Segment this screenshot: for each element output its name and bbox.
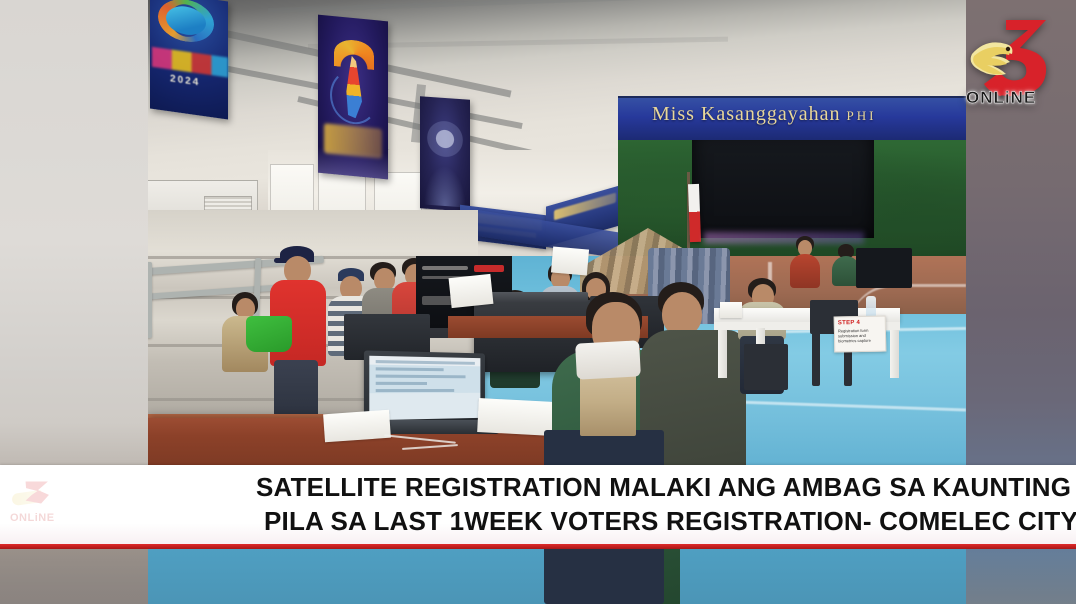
watermark-text: ONLiNE: [10, 512, 55, 524]
broadcast-frame: 2024 Miss Kasanggayahan: [0, 0, 1076, 604]
table-leg: [890, 330, 899, 378]
paper-stack: [551, 246, 589, 275]
stage-lighting-glow: [704, 232, 864, 244]
stage-equipment-table: [856, 248, 912, 288]
green-bag: [246, 316, 292, 352]
paper-stack: [449, 274, 494, 308]
handrail-post: [148, 262, 152, 338]
lower-third-watermark: ONLiNE: [10, 478, 70, 528]
printer-paper-tray: [482, 292, 588, 302]
headline-line-2: PILA SA LAST 1WEEK VOTERS REGISTRATION- …: [264, 504, 1066, 538]
festival-wordmark: [152, 47, 228, 78]
plastic-wrapped-item: [575, 340, 641, 379]
hanging-banner-pageant: [318, 15, 388, 180]
festival-year: 2024: [170, 73, 200, 88]
paper-stack: [477, 398, 555, 436]
small-sign: [720, 302, 742, 318]
emblem-seal-icon: [427, 115, 463, 164]
hanging-banner-festival: 2024: [150, 0, 228, 119]
stage-banner-text: Miss Kasanggayahan PHI: [652, 103, 876, 126]
emblem-glow: [424, 165, 466, 208]
step-sign-body: Registration form submission and biometr…: [838, 328, 881, 344]
stage-banner: Miss Kasanggayahan PHI: [618, 98, 966, 140]
channel-logo: ONLiNE: [962, 14, 1058, 110]
chair-black: [744, 344, 788, 390]
step-sign-header: STEP 4: [838, 320, 885, 327]
news-headline: SATELLITE REGISTRATION MALAKI ANG AMBAG …: [256, 470, 1066, 542]
eagle-eye-icon: [1006, 47, 1010, 51]
bleacher-step: [148, 398, 398, 401]
shopping-tote-bag: [580, 352, 636, 436]
hanging-banner-emblem: [420, 96, 470, 211]
stage-led-screen: [692, 128, 874, 238]
channel-wordmark: ONLiNE: [966, 88, 1036, 108]
headline-line-1: SATELLITE REGISTRATION MALAKI ANG AMBAG …: [256, 470, 1066, 504]
step-4-sign: STEP 4 Registration form submission and …: [834, 316, 887, 353]
paper-stack: [323, 410, 391, 443]
lower-third-red-rule: [0, 544, 1076, 549]
booth-red-bar: [474, 265, 504, 272]
table-leg: [718, 330, 727, 378]
tripod-leg: [812, 330, 820, 386]
philippine-flag: [688, 184, 701, 242]
